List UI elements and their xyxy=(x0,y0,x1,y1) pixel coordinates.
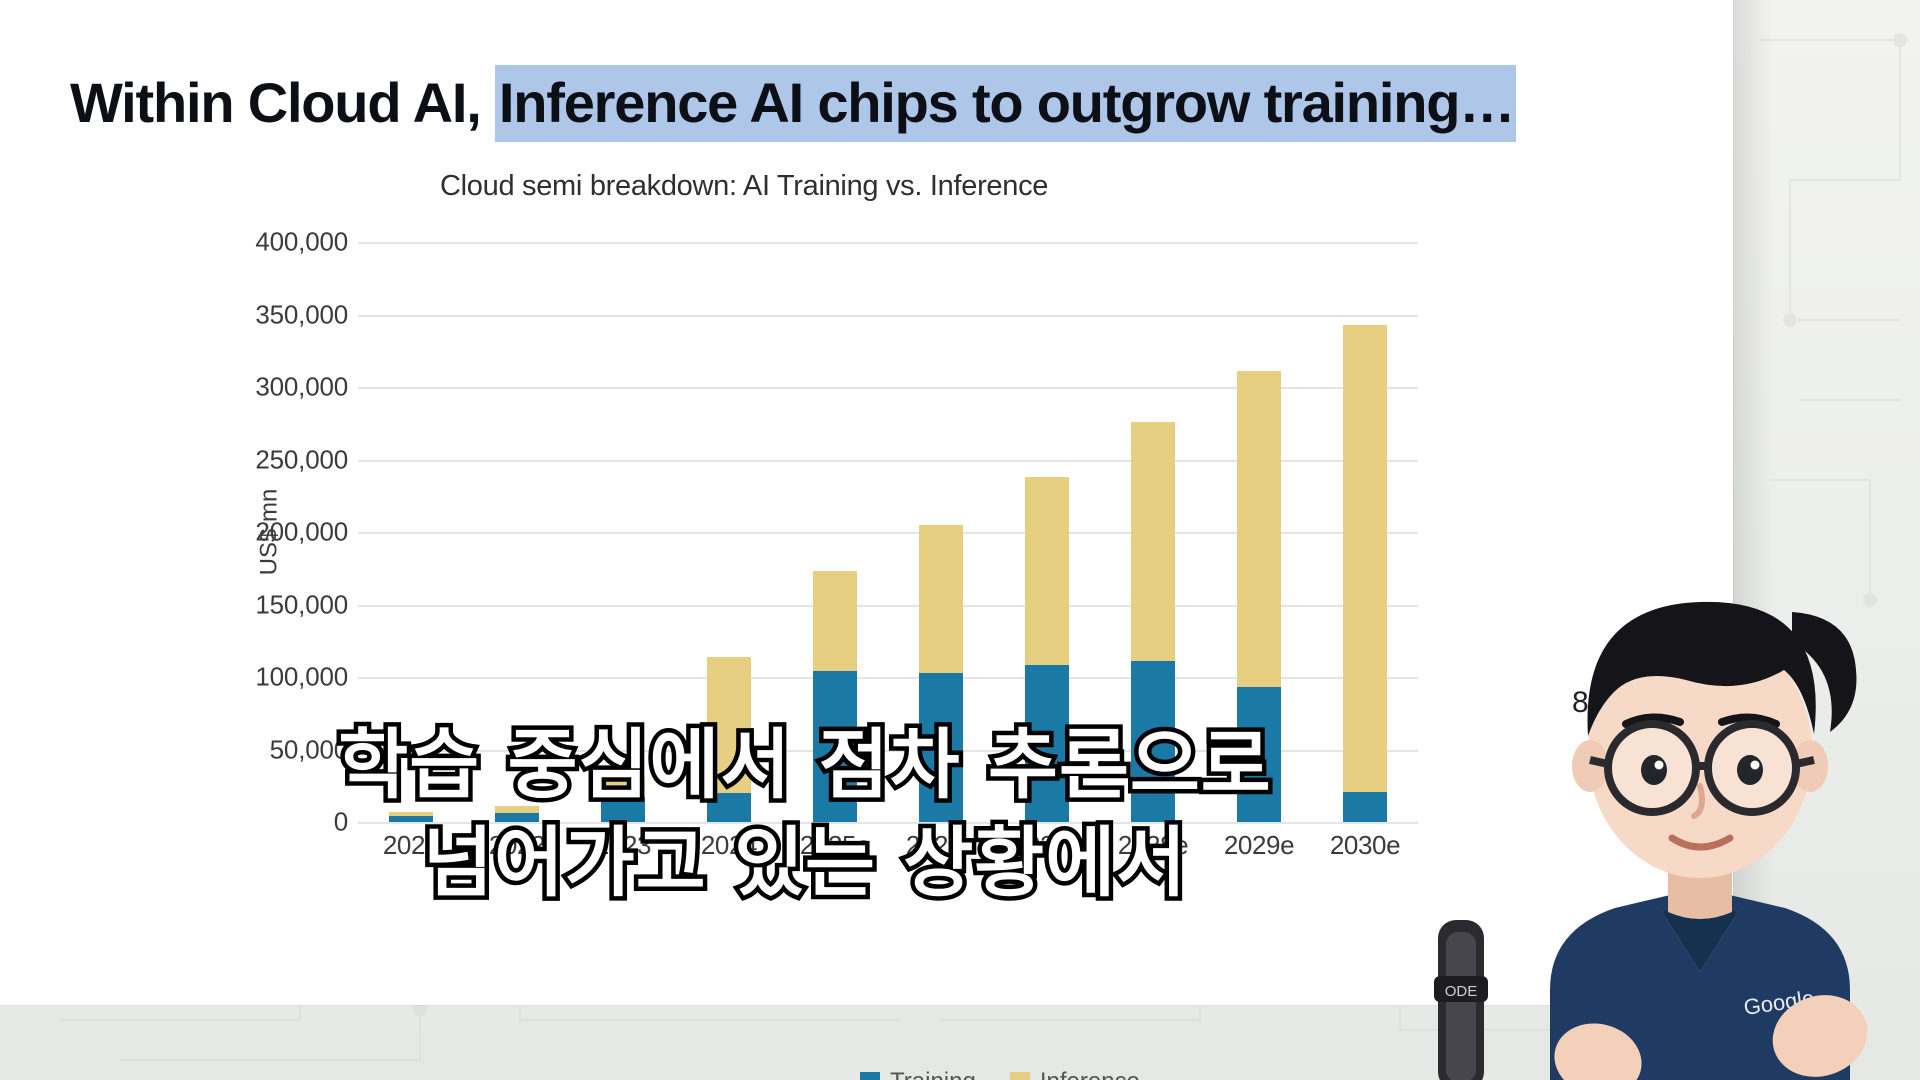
bar-stack xyxy=(1343,325,1387,822)
bar-stack xyxy=(919,525,963,822)
title-highlighted-text: Inference AI chips to outgrow training… xyxy=(495,65,1516,142)
y-axis-tick-label: 150,000 xyxy=(255,589,348,620)
x-axis-tick-label: 2022 xyxy=(464,830,570,861)
title-line: Within Cloud AI, Inference AI chips to o… xyxy=(70,58,1680,148)
bar-group-2022 xyxy=(464,242,570,822)
bar-group-2026e xyxy=(888,242,994,822)
bar-segment-inference xyxy=(495,806,539,813)
bar-segment-training xyxy=(707,793,751,822)
bar-segment-training xyxy=(1343,792,1387,822)
chart-legend: TrainingInference xyxy=(860,1068,1140,1080)
legend-swatch-icon xyxy=(860,1072,880,1080)
y-axis-tick-label: 250,000 xyxy=(255,444,348,475)
y-axis-tick-label: 350,000 xyxy=(255,299,348,330)
y-axis-tick-label: 400,000 xyxy=(255,227,348,258)
bar-stack xyxy=(1237,371,1281,822)
bar-group-2028e xyxy=(1100,242,1206,822)
legend-label: Training xyxy=(890,1068,976,1080)
x-axis-tick-label: 2021 xyxy=(358,830,464,861)
bar-segment-inference xyxy=(601,777,645,797)
y-axis-tick-label: 300,000 xyxy=(255,372,348,403)
bar-segment-training xyxy=(601,797,645,822)
y-axis-tick-label: 100,000 xyxy=(255,662,348,693)
x-axis-tick-label: 2026e xyxy=(888,830,994,861)
legend-swatch-icon xyxy=(1010,1072,1030,1080)
bar-segment-training xyxy=(1237,687,1281,822)
bar-segment-training xyxy=(1025,665,1069,822)
x-axis-tick-label: 2028e xyxy=(1100,830,1206,861)
bar-stack xyxy=(1131,422,1175,822)
y-axis-tick-label: 0 xyxy=(334,807,348,838)
legend-item-training[interactable]: Training xyxy=(860,1068,976,1080)
bar-stack xyxy=(707,657,751,822)
page-title: Within Cloud AI, Inference AI chips to o… xyxy=(70,58,1680,148)
bar-group-2025e xyxy=(782,242,888,822)
bar-segment-training xyxy=(495,813,539,822)
chart-container: Cloud semi breakdown: AI Training vs. In… xyxy=(240,170,1480,960)
legend-label: Inference xyxy=(1040,1068,1140,1080)
chart-title: Cloud semi breakdown: AI Training vs. In… xyxy=(440,170,1048,203)
bar-segment-training xyxy=(1131,661,1175,822)
bar-segment-inference xyxy=(1025,477,1069,666)
x-axis-tick-label: 2025e xyxy=(782,830,888,861)
x-axis-tick-label: 2027e xyxy=(994,830,1100,861)
title-plain-text: Within Cloud AI, xyxy=(70,71,495,134)
x-axis-ticks: 20212022202320242025e2026e2027e2028e2029… xyxy=(358,830,1418,861)
x-axis-tick-label: 2023 xyxy=(570,830,676,861)
plot-area: US$ mn 400,000350,000300,000250,000200,0… xyxy=(358,242,1418,822)
gridline xyxy=(358,822,1418,824)
bar-stack xyxy=(495,806,539,822)
bar-stack xyxy=(389,812,433,822)
bar-segment-inference xyxy=(813,571,857,671)
bar-group-2024 xyxy=(676,242,782,822)
bars-area xyxy=(358,242,1418,822)
bar-group-2023 xyxy=(570,242,676,822)
bar-segment-inference xyxy=(1343,325,1387,792)
bar-segment-inference xyxy=(1237,371,1281,687)
x-axis-tick-label: 2029e xyxy=(1206,830,1312,861)
y-axis-tick-label: 50,000 xyxy=(270,734,348,765)
bar-segment-training xyxy=(389,816,433,822)
bar-segment-training xyxy=(813,671,857,822)
legend-item-inference[interactable]: Inference xyxy=(1010,1068,1140,1080)
bar-group-2021 xyxy=(358,242,464,822)
bar-segment-inference xyxy=(1131,422,1175,661)
bar-stack xyxy=(1025,477,1069,822)
bar-stack xyxy=(601,777,645,822)
bar-group-2029e xyxy=(1206,242,1312,822)
x-axis-tick-label: 2024 xyxy=(676,830,782,861)
y-axis-tick-label: 200,000 xyxy=(255,517,348,548)
slide-stage: Within Cloud AI, Inference AI chips to o… xyxy=(0,0,1920,1080)
bar-segment-inference xyxy=(707,657,751,793)
presenter-avatar: Google xyxy=(1400,520,1920,1080)
bar-group-2027e xyxy=(994,242,1100,822)
bar-segment-inference xyxy=(919,525,963,673)
bar-segment-training xyxy=(919,673,963,822)
bar-stack xyxy=(813,571,857,822)
